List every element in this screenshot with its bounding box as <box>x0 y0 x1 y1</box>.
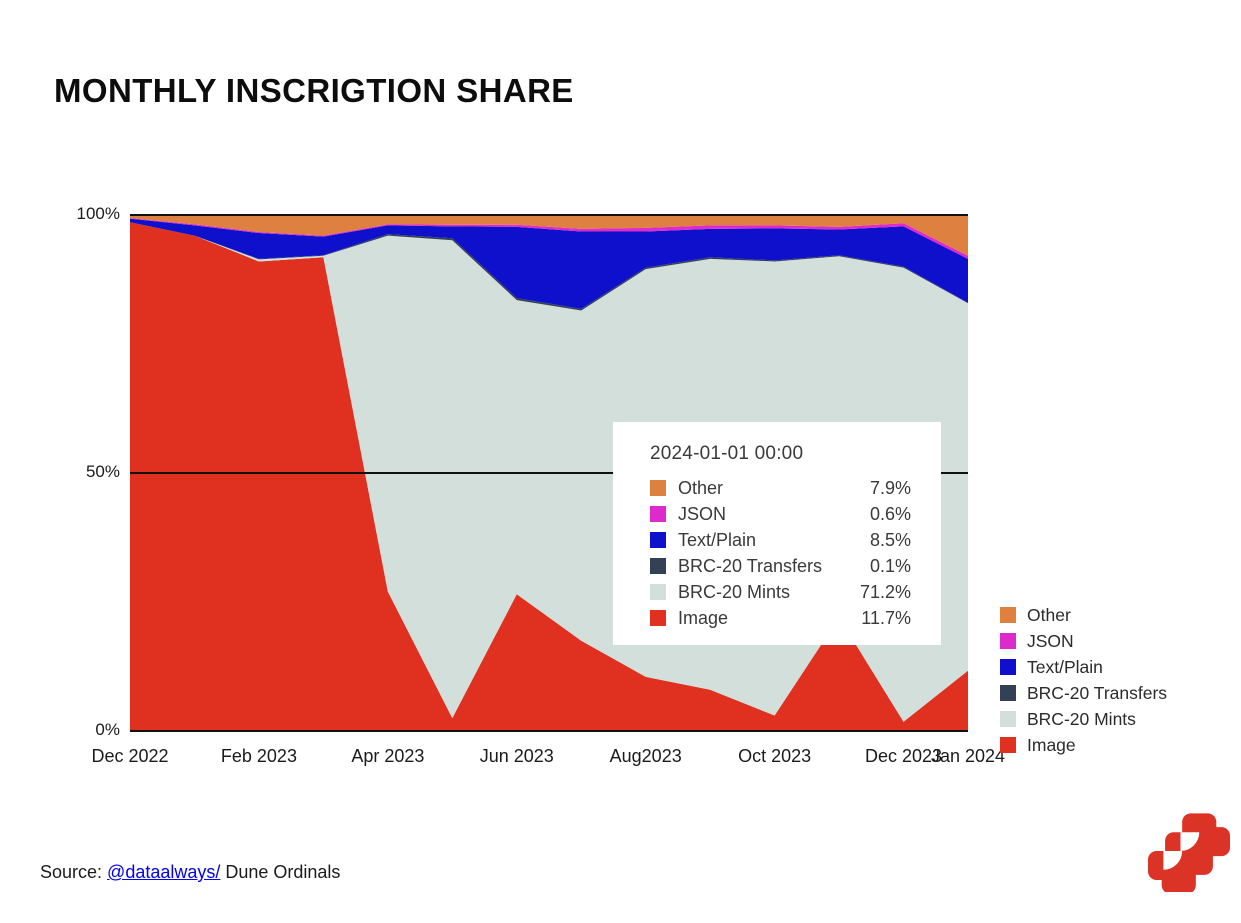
tooltip-series-name: BRC-20 Mints <box>678 582 860 603</box>
page-title: MONTHLY INSCRIGTION SHARE <box>54 72 574 110</box>
x-tick-label-7: Jan 2024 <box>931 746 1005 767</box>
tooltip-series-name: Text/Plain <box>678 530 870 551</box>
legend-item-brc-20-mints[interactable]: BRC-20 Mints <box>1000 706 1210 732</box>
tooltip-row: Image11.7% <box>613 605 941 631</box>
legend-item-json[interactable]: JSON <box>1000 628 1210 654</box>
y-tick-label-50pct: 50% <box>46 462 120 482</box>
source-handle-link[interactable]: @dataalways/ <box>107 862 220 882</box>
tooltip-swatch-icon <box>650 558 666 574</box>
chart-tooltip: 2024-01-01 00:00 Other7.9%JSON0.6%Text/P… <box>613 422 941 645</box>
x-tick-label-3: Jun 2023 <box>480 746 554 767</box>
legend-swatch-icon <box>1000 711 1016 727</box>
tooltip-row: JSON0.6% <box>613 501 941 527</box>
tooltip-series-name: JSON <box>678 504 870 525</box>
legend-item-label: Image <box>1027 735 1076 756</box>
tooltip-spacer <box>613 631 941 645</box>
tooltip-title: 2024-01-01 00:00 <box>613 422 941 475</box>
legend-swatch-icon <box>1000 685 1016 701</box>
tooltip-series-value: 0.1% <box>870 556 911 577</box>
y-tick-label-100pct: 100% <box>46 204 120 224</box>
legend-item-brc-20-transfers[interactable]: BRC-20 Transfers <box>1000 680 1210 706</box>
tooltip-swatch-icon <box>650 506 666 522</box>
x-tick-label-1: Feb 2023 <box>221 746 297 767</box>
legend-swatch-icon <box>1000 737 1016 753</box>
tooltip-swatch-icon <box>650 480 666 496</box>
x-tick-label-2: Apr 2023 <box>351 746 424 767</box>
x-tick-label-4: Aug2023 <box>610 746 682 767</box>
source-suffix: Dune Ordinals <box>220 862 340 882</box>
chart-legend: OtherJSONText/PlainBRC-20 TransfersBRC-2… <box>1000 602 1210 758</box>
legend-item-label: Other <box>1027 605 1071 626</box>
legend-item-other[interactable]: Other <box>1000 602 1210 628</box>
legend-item-image[interactable]: Image <box>1000 732 1210 758</box>
tooltip-series-value: 8.5% <box>870 530 911 551</box>
tooltip-series-name: BRC-20 Transfers <box>678 556 870 577</box>
source-attribution: Source: @dataalways/ Dune Ordinals <box>40 862 340 883</box>
legend-item-label: BRC-20 Transfers <box>1027 683 1167 704</box>
legend-item-label: JSON <box>1027 631 1074 652</box>
source-prefix: Source: <box>40 862 107 882</box>
tooltip-row: BRC-20 Transfers0.1% <box>613 553 941 579</box>
legend-swatch-icon <box>1000 607 1016 623</box>
tooltip-row: Other7.9% <box>613 475 941 501</box>
chart-figure: 0%50%100% Dec 2022Feb 2023Apr 2023Jun 20… <box>0 190 1241 790</box>
tooltip-series-name: Image <box>678 608 861 629</box>
y-tick-label-0pct: 0% <box>46 720 120 740</box>
legend-swatch-icon <box>1000 633 1016 649</box>
tooltip-series-value: 7.9% <box>870 478 911 499</box>
x-tick-label-5: Oct 2023 <box>738 746 811 767</box>
y-axis-labels: 0%50%100% <box>46 190 120 790</box>
tooltip-series-name: Other <box>678 478 870 499</box>
tooltip-swatch-icon <box>650 610 666 626</box>
legend-item-label: Text/Plain <box>1027 657 1103 678</box>
tooltip-series-value: 71.2% <box>860 582 911 603</box>
tooltip-series-value: 0.6% <box>870 504 911 525</box>
tooltip-swatch-icon <box>650 584 666 600</box>
tooltip-series-value: 11.7% <box>861 608 911 629</box>
brand-logo-icon <box>1146 810 1232 892</box>
x-tick-label-0: Dec 2022 <box>91 746 168 767</box>
tooltip-swatch-icon <box>650 532 666 548</box>
legend-item-text-plain[interactable]: Text/Plain <box>1000 654 1210 680</box>
tooltip-row: Text/Plain8.5% <box>613 527 941 553</box>
legend-item-label: BRC-20 Mints <box>1027 709 1136 730</box>
legend-swatch-icon <box>1000 659 1016 675</box>
tooltip-rows: Other7.9%JSON0.6%Text/Plain8.5%BRC-20 Tr… <box>613 475 941 631</box>
tooltip-row: BRC-20 Mints71.2% <box>613 579 941 605</box>
